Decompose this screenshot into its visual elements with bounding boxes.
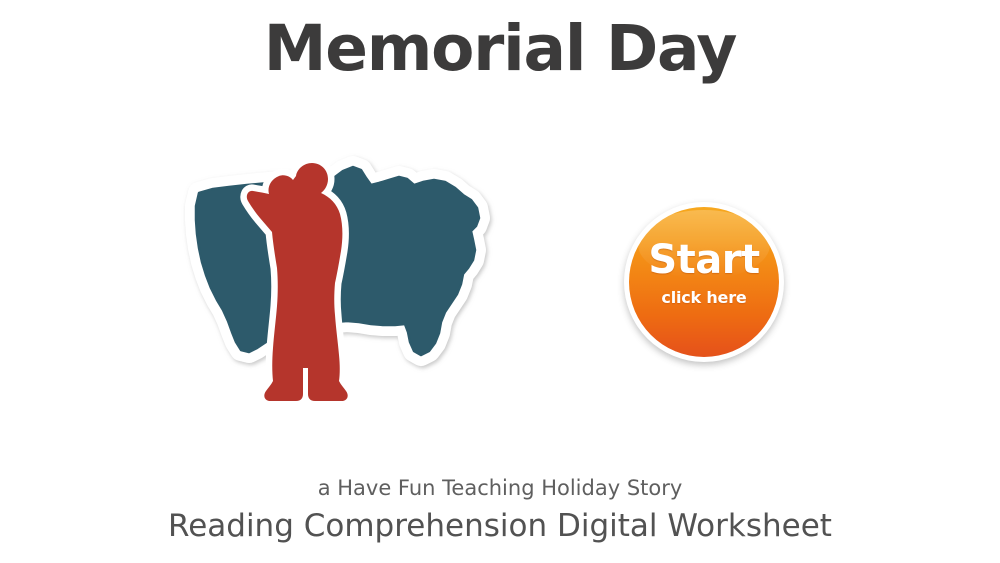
start-button[interactable]: Start click here: [624, 202, 784, 362]
usa-map-with-saluting-soldier-graphic: [183, 162, 508, 407]
footer-title: Reading Comprehension Digital Worksheet: [0, 508, 1000, 544]
slide-canvas: Memorial Day: [0, 0, 1000, 563]
start-button-label: Start: [624, 240, 784, 280]
page-title: Memorial Day: [0, 16, 1000, 82]
footer-subtitle: a Have Fun Teaching Holiday Story: [0, 476, 1000, 500]
start-button-sublabel: click here: [624, 290, 784, 306]
hero-illustration: [183, 162, 508, 407]
